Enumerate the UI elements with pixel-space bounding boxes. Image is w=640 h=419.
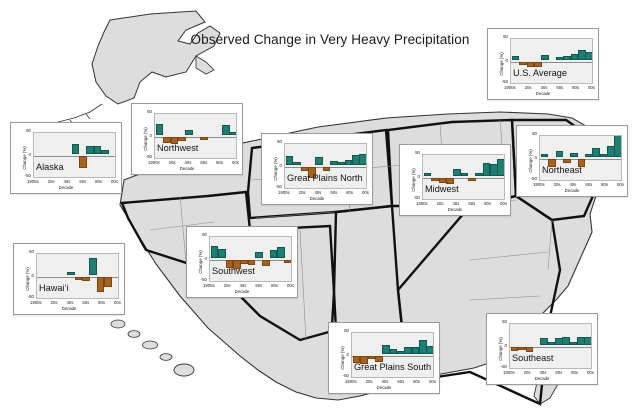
y-tick-zero: 0 [493, 343, 507, 348]
x-tick: 40s [452, 201, 459, 206]
x-tick: 80s [601, 182, 608, 187]
bar-00s [497, 159, 505, 176]
bar-slot [585, 39, 592, 83]
region-name-midwest: Midwest [425, 184, 459, 194]
bar-slot [570, 39, 577, 83]
x-tick-labels: 1900s20s40s60s80s00s [345, 379, 436, 384]
x-tick: 40s [66, 300, 73, 305]
y-tick-max: 50 [493, 319, 507, 324]
x-tick: 60s [330, 190, 337, 195]
x-tick: 00s [588, 85, 595, 90]
bar-slot [96, 254, 103, 298]
x-tick: 80s [413, 379, 420, 384]
x-tick: 80s [98, 300, 105, 305]
bar-slot [78, 133, 85, 177]
y-axis-label: Change (%) [198, 250, 203, 273]
bar-slot [207, 114, 214, 158]
bar-slot [489, 155, 496, 199]
y-tick-min: -50 [404, 195, 420, 200]
x-axis-label: Decade [14, 306, 124, 311]
x-axis-label: Decade [487, 376, 597, 381]
x-tick: 40s [63, 179, 70, 184]
x-tick-labels: 1900s20s40s60s80s00s [416, 201, 507, 206]
bar-slot [497, 155, 504, 199]
y-axis-label: Change (%) [499, 52, 504, 75]
y-tick-zero: 0 [17, 152, 31, 157]
chart-panel-u-s-average: Change (%)500-50U.S. Average1900s20s40s6… [487, 28, 599, 100]
bar-slot [284, 237, 291, 281]
x-tick: 60s [397, 379, 404, 384]
y-tick-max: 50 [406, 150, 420, 155]
y-axis-label: Change (%) [22, 146, 27, 169]
chart-panel-great-plains-south: Change (%)500-50Great Plains South1900s2… [328, 322, 440, 394]
hawaii-islands [111, 320, 194, 376]
x-tick: 1900s [504, 85, 516, 90]
x-tick: 00s [114, 300, 121, 305]
y-axis-label: Change (%) [340, 346, 345, 369]
bar-slot [482, 155, 489, 199]
chart-panel-northwest: Change (%)500-50Northwest1900s20s40s60s8… [131, 103, 243, 175]
x-tick-labels: 1900s20s40s60s80s00s [533, 182, 624, 187]
alaska-panhandle [196, 56, 214, 74]
y-tick-max: 50 [138, 109, 152, 114]
bar-slot [86, 133, 93, 177]
x-tick: 40s [184, 160, 191, 165]
x-tick: 00s [429, 379, 436, 384]
bar-slot [569, 324, 576, 368]
x-tick: 20s [51, 300, 58, 305]
bar-00s [229, 132, 237, 135]
chart-panel-alaska: Change (%)500-50Alaska1900s20s40s60s80s0… [10, 122, 122, 194]
y-tick-min: -50 [266, 184, 282, 189]
chart-panel-hawai-i: Change (%)500-50Hawai‘i1900s20s40s60s80s… [13, 243, 125, 315]
bar-slot [599, 136, 606, 180]
x-tick: 80s [346, 190, 353, 195]
x-tick: 80s [95, 179, 102, 184]
y-tick-min: -50 [136, 154, 152, 159]
bar-slot [614, 136, 621, 180]
y-axis-label: Change (%) [498, 337, 503, 360]
y-tick-zero: 0 [193, 256, 207, 261]
x-axis-label: Decade [262, 196, 372, 201]
x-tick: 60s [556, 85, 563, 90]
x-tick: 20s [525, 85, 532, 90]
bar-slot [460, 155, 467, 199]
region-name-northwest: Northwest [157, 143, 198, 153]
x-tick: 20s [437, 201, 444, 206]
bar-00s [584, 337, 592, 345]
bar-slot [108, 133, 115, 177]
bar-slot [467, 155, 474, 199]
bar-slot [276, 237, 283, 281]
bar-slot [584, 136, 591, 180]
x-tick: 20s [48, 179, 55, 184]
bar-slot [100, 133, 107, 177]
bar-slot [71, 133, 78, 177]
bar-slot [111, 254, 118, 298]
bar-00s [614, 135, 622, 157]
region-name-great-plains-north: Great Plains North [287, 173, 363, 183]
region-name-hawai-i: Hawai‘i [39, 283, 69, 293]
y-tick-max: 50 [268, 139, 282, 144]
bar-slot [592, 136, 599, 180]
y-tick-max: 50 [20, 249, 34, 254]
figure-title: Observed Change in Very Heavy Precipitat… [180, 32, 480, 47]
y-tick-min: -50 [191, 277, 207, 282]
region-name-great-plains-south: Great Plains South [354, 362, 431, 372]
x-tick-labels: 1900s20s40s60s80s00s [503, 370, 594, 375]
bar-00s [585, 52, 593, 60]
y-tick-max: 50 [193, 232, 207, 237]
y-axis-label: Change (%) [528, 149, 533, 172]
x-tick: 1900s [278, 190, 290, 195]
bar-slot [63, 133, 70, 177]
x-tick: 00s [500, 201, 507, 206]
x-tick: 80s [271, 283, 278, 288]
bar-slot [89, 254, 96, 298]
x-tick-labels: 1900s20s40s60s80s00s [148, 160, 239, 165]
x-tick: 1900s [30, 300, 42, 305]
bar-00s [284, 260, 292, 263]
x-tick: 1900s [345, 379, 357, 384]
bar-slot [221, 114, 228, 158]
x-tick-labels: 1900s20s40s60s80s00s [504, 85, 595, 90]
y-axis-label: Change (%) [273, 157, 278, 180]
y-axis-label: Change (%) [143, 127, 148, 150]
x-tick: 20s [299, 190, 306, 195]
x-tick: 40s [239, 283, 246, 288]
y-tick-zero: 0 [494, 58, 508, 63]
x-tick: 60s [585, 182, 592, 187]
x-tick: 00s [287, 283, 294, 288]
bar-slot [74, 254, 81, 298]
region-name-southwest: Southwest [212, 266, 255, 276]
bar-slot [81, 254, 88, 298]
x-tick: 60s [468, 201, 475, 206]
bar-slot [577, 39, 584, 83]
bar-slot [475, 155, 482, 199]
bar-slot [269, 237, 276, 281]
y-tick-min: -50 [521, 176, 537, 181]
x-tick: 00s [111, 179, 118, 184]
x-tick: 1900s [533, 182, 545, 187]
x-tick: 60s [555, 370, 562, 375]
x-tick: 60s [255, 283, 262, 288]
x-tick: 80s [571, 370, 578, 375]
chart-panel-midwest: Change (%)500-50Midwest1900s20s40s60s80s… [399, 144, 511, 216]
x-tick-labels: 1900s20s40s60s80s00s [30, 300, 121, 305]
x-axis-label: Decade [329, 385, 439, 390]
x-tick-labels: 1900s20s40s60s80s00s [278, 190, 369, 195]
x-tick: 1900s [148, 160, 160, 165]
bar-00s [426, 346, 434, 354]
y-axis-label: Change (%) [411, 168, 416, 191]
x-tick: 80s [484, 201, 491, 206]
x-axis-label: Decade [517, 188, 627, 193]
region-name-alaska: Alaska [36, 162, 64, 172]
bar-slot [229, 114, 236, 158]
bar-slot [584, 324, 591, 368]
y-tick-max: 50 [17, 128, 31, 133]
y-tick-zero: 0 [523, 155, 537, 160]
x-tick: 60s [200, 160, 207, 165]
x-axis-label: Decade [488, 91, 598, 96]
bar-slot [199, 114, 206, 158]
bar-slot [606, 136, 613, 180]
y-tick-zero: 0 [138, 133, 152, 138]
x-tick: 1900s [503, 370, 515, 375]
y-tick-max: 50 [335, 328, 349, 333]
x-tick: 80s [572, 85, 579, 90]
x-axis-label: Decade [11, 185, 121, 190]
bar-slot [576, 324, 583, 368]
bar-slot [262, 237, 269, 281]
x-tick: 20s [169, 160, 176, 165]
x-tick: 40s [539, 370, 546, 375]
x-tick: 1900s [203, 283, 215, 288]
y-tick-max: 50 [494, 34, 508, 39]
x-tick: 60s [82, 300, 89, 305]
region-name-u-s-average: U.S. Average [513, 68, 567, 78]
x-tick-labels: 1900s20s40s60s80s00s [203, 283, 294, 288]
y-tick-zero: 0 [20, 273, 34, 278]
x-tick: 40s [540, 85, 547, 90]
x-tick: 00s [617, 182, 624, 187]
x-axis-label: Decade [132, 166, 242, 171]
y-axis-label: Change (%) [25, 267, 30, 290]
x-tick: 00s [362, 190, 369, 195]
x-tick: 20s [366, 379, 373, 384]
chart-panel-northeast: Change (%)500-50Northeast1900s20s40s60s8… [516, 125, 628, 197]
x-tick: 60s [79, 179, 86, 184]
y-tick-min: -50 [18, 294, 34, 299]
x-tick: 40s [381, 379, 388, 384]
x-tick: 1900s [27, 179, 39, 184]
x-axis-label: Decade [400, 207, 510, 212]
x-tick: 40s [569, 182, 576, 187]
bar-slot [93, 133, 100, 177]
x-tick: 40s [314, 190, 321, 195]
chart-panel-southwest: Change (%)500-50Southwest1900s20s40s60s8… [186, 226, 298, 298]
x-tick: 00s [587, 370, 594, 375]
bar-slot [214, 114, 221, 158]
y-tick-min: -50 [15, 173, 31, 178]
x-tick: 80s [216, 160, 223, 165]
x-tick: 00s [232, 160, 239, 165]
y-tick-zero: 0 [406, 174, 420, 179]
bar-slot [103, 254, 110, 298]
bar-slot [562, 324, 569, 368]
chart-panel-southeast: Change (%)500-50Southeast1900s20s40s60s8… [486, 313, 598, 385]
region-name-southeast: Southeast [512, 353, 553, 363]
y-tick-zero: 0 [335, 352, 349, 357]
y-tick-min: -50 [491, 364, 507, 369]
bar-00s [359, 154, 367, 165]
y-tick-min: -50 [492, 79, 508, 84]
alaska-landmass [92, 11, 220, 104]
y-tick-zero: 0 [268, 163, 282, 168]
bar-slot [254, 237, 261, 281]
x-tick-labels: 1900s20s40s60s80s00s [27, 179, 118, 184]
x-tick: 20s [224, 283, 231, 288]
x-tick: 1900s [416, 201, 428, 206]
region-name-northeast: Northeast [542, 165, 582, 175]
x-tick: 20s [554, 182, 561, 187]
x-axis-label: Decade [187, 289, 297, 294]
y-tick-max: 50 [523, 131, 537, 136]
chart-panel-great-plains-north: Change (%)500-50Great Plains North1900s2… [261, 133, 373, 205]
x-tick: 20s [524, 370, 531, 375]
figure-canvas: Observed Change in Very Heavy Precipitat… [0, 0, 640, 419]
y-tick-min: -50 [333, 373, 349, 378]
bar-slot [554, 324, 561, 368]
